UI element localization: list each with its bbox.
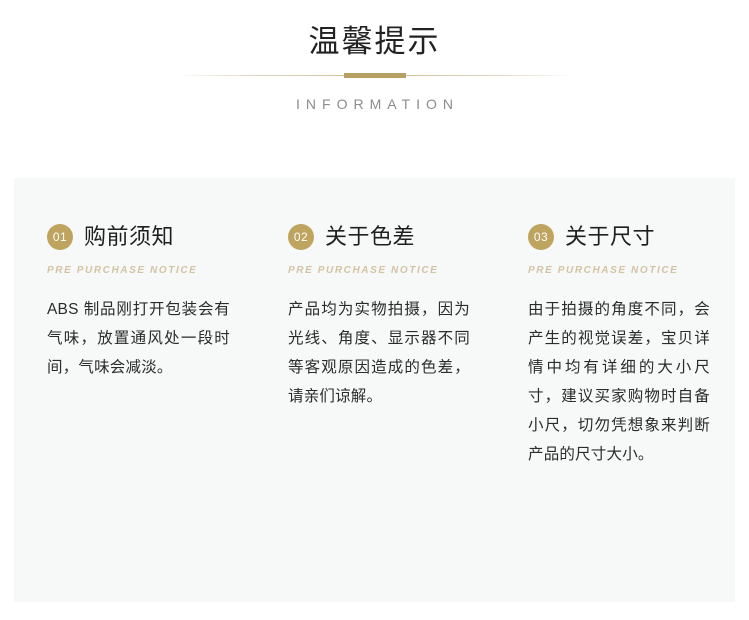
notice-card-1-title: 购前须知 xyxy=(84,223,174,251)
notice-card-3-body: 由于拍摄的角度不同，会产生的视觉误差，宝贝详情中均有详细的大小尺寸，建议买家购物… xyxy=(528,295,710,469)
notice-columns: 01 购前须知 PRE PURCHASE NOTICE ABS 制品刚打开包装会… xyxy=(14,178,735,602)
notice-card-1-header: 01 购前须知 xyxy=(47,223,230,251)
notice-card-3-header: 03 关于尺寸 xyxy=(528,223,710,251)
notice-card-2-subtitle: PRE PURCHASE NOTICE xyxy=(288,264,470,278)
notice-card-3: 03 关于尺寸 PRE PURCHASE NOTICE 由于拍摄的角度不同，会产… xyxy=(494,178,734,602)
notice-badge-01: 01 xyxy=(47,224,73,250)
notice-badge-02: 02 xyxy=(288,224,314,250)
notice-card-2: 02 关于色差 PRE PURCHASE NOTICE 产品均为实物拍摄，因为光… xyxy=(254,178,494,602)
notice-card-1-subtitle: PRE PURCHASE NOTICE xyxy=(47,264,230,278)
notice-card-2-title: 关于色差 xyxy=(325,223,415,251)
page-header: 温馨提示 INFORMATION xyxy=(0,0,749,114)
notice-card-2-body: 产品均为实物拍摄，因为光线、角度、显示器不同等客观原因造成的色差，请亲们谅解。 xyxy=(288,295,470,411)
notice-card-1-body: ABS 制品刚打开包装会有气味，放置通风处一段时间，气味会减淡。 xyxy=(47,295,230,382)
divider-accent-bar xyxy=(344,73,406,78)
page-title: 温馨提示 xyxy=(0,22,749,62)
notice-card-2-header: 02 关于色差 xyxy=(288,223,470,251)
notice-card-3-subtitle: PRE PURCHASE NOTICE xyxy=(528,264,710,278)
title-divider xyxy=(180,72,570,80)
notices-panel: 01 购前须知 PRE PURCHASE NOTICE ABS 制品刚打开包装会… xyxy=(14,178,735,602)
notice-card-1: 01 购前须知 PRE PURCHASE NOTICE ABS 制品刚打开包装会… xyxy=(14,178,254,602)
page-subtitle: INFORMATION xyxy=(0,94,749,114)
notice-card-3-title: 关于尺寸 xyxy=(565,223,655,251)
notice-badge-03: 03 xyxy=(528,224,554,250)
